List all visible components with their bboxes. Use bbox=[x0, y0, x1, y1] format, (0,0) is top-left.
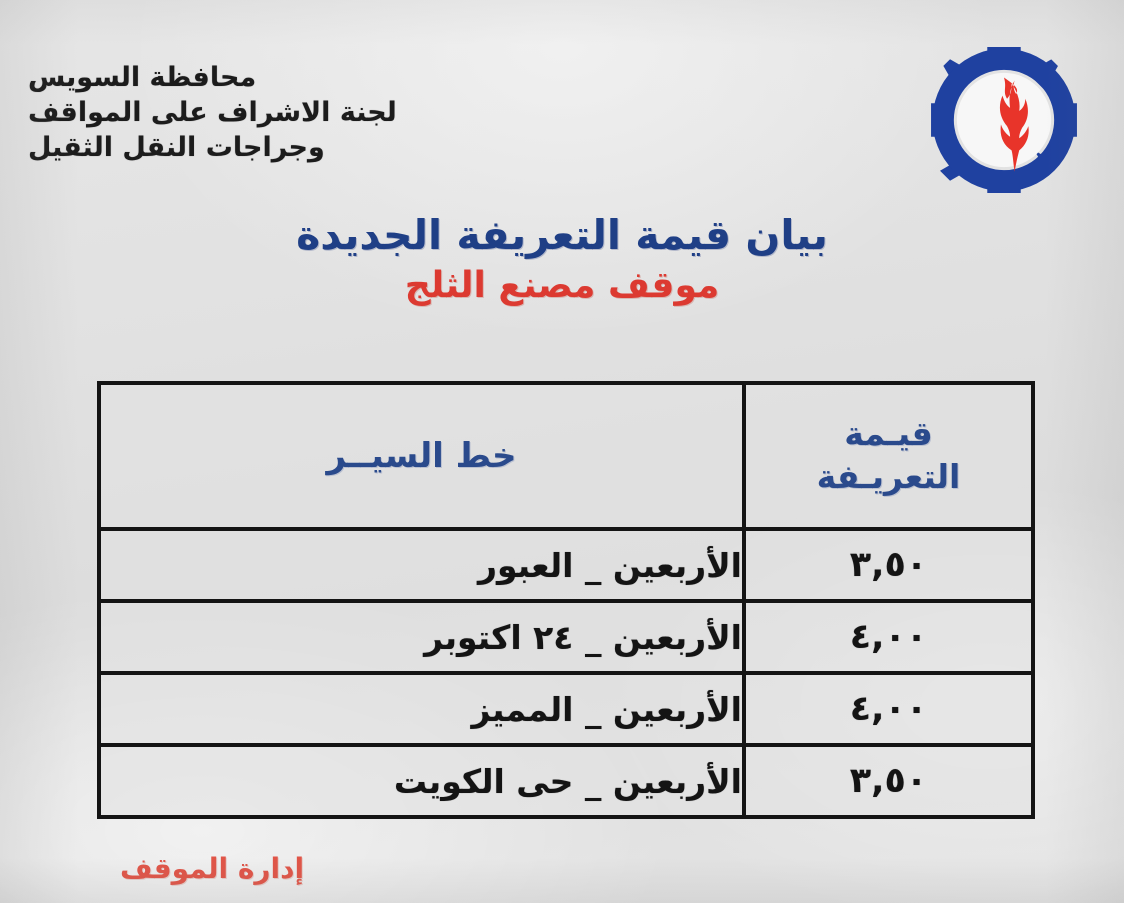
page-title: بيان قيمة التعريفة الجديدة bbox=[0, 212, 1124, 259]
fare-value: ٤,٠٠ bbox=[744, 601, 1033, 673]
footer-admin-label: إدارة الموقف bbox=[120, 852, 304, 885]
tariff-table: قيـمة التعريـفة خط السيــر ٣,٥٠ الأربعين… bbox=[97, 381, 1035, 819]
column-header-fare: قيـمة التعريـفة bbox=[744, 383, 1033, 529]
table-row: ٤,٠٠ الأربعين _ المميز bbox=[99, 673, 1033, 745]
table-row: ٣,٥٠ الأربعين _ حى الكويت bbox=[99, 745, 1033, 817]
fare-value: ٣,٥٠ bbox=[744, 745, 1033, 817]
route-value: الأربعين _ المميز bbox=[99, 673, 744, 745]
column-header-route: خط السيــر bbox=[99, 383, 744, 529]
table-row: ٣,٥٠ الأربعين _ العبور bbox=[99, 529, 1033, 601]
suez-governorate-emblem-icon bbox=[928, 44, 1080, 196]
organization-lines: محافظة السويس لجنة الاشراف على المواقف و… bbox=[28, 60, 397, 165]
footer-cut-off-text: ـــ ـــــ ـــ ــــ ـــــ ـــ bbox=[20, 892, 164, 903]
table-head: قيـمة التعريـفة خط السيــر bbox=[99, 383, 1033, 529]
table-body: ٣,٥٠ الأربعين _ العبور ٤,٠٠ الأربعين _ ٢… bbox=[99, 529, 1033, 817]
header-band: محافظة السويس لجنة الاشراف على المواقف و… bbox=[0, 44, 1124, 194]
fare-value: ٤,٠٠ bbox=[744, 673, 1033, 745]
fare-value: ٣,٥٠ bbox=[744, 529, 1033, 601]
route-value: الأربعين _ حى الكويت bbox=[99, 745, 744, 817]
org-line-governorate: محافظة السويس bbox=[28, 60, 397, 95]
column-header-fare-line1: قيـمة bbox=[746, 413, 1031, 456]
title-block: بيان قيمة التعريفة الجديدة موقف مصنع الث… bbox=[0, 212, 1124, 307]
route-value: الأربعين _ ٢٤ اكتوبر bbox=[99, 601, 744, 673]
route-value: الأربعين _ العبور bbox=[99, 529, 744, 601]
poster-page: محافظة السويس لجنة الاشراف على المواقف و… bbox=[0, 0, 1124, 903]
org-line-garages: وجراجات النقل الثقيل bbox=[28, 130, 397, 165]
org-line-committee: لجنة الاشراف على المواقف bbox=[28, 95, 397, 130]
page-subtitle: موقف مصنع الثلج bbox=[0, 265, 1124, 306]
column-header-fare-line2: التعريـفة bbox=[746, 456, 1031, 499]
table-header-row: قيـمة التعريـفة خط السيــر bbox=[99, 383, 1033, 529]
table-row: ٤,٠٠ الأربعين _ ٢٤ اكتوبر bbox=[99, 601, 1033, 673]
